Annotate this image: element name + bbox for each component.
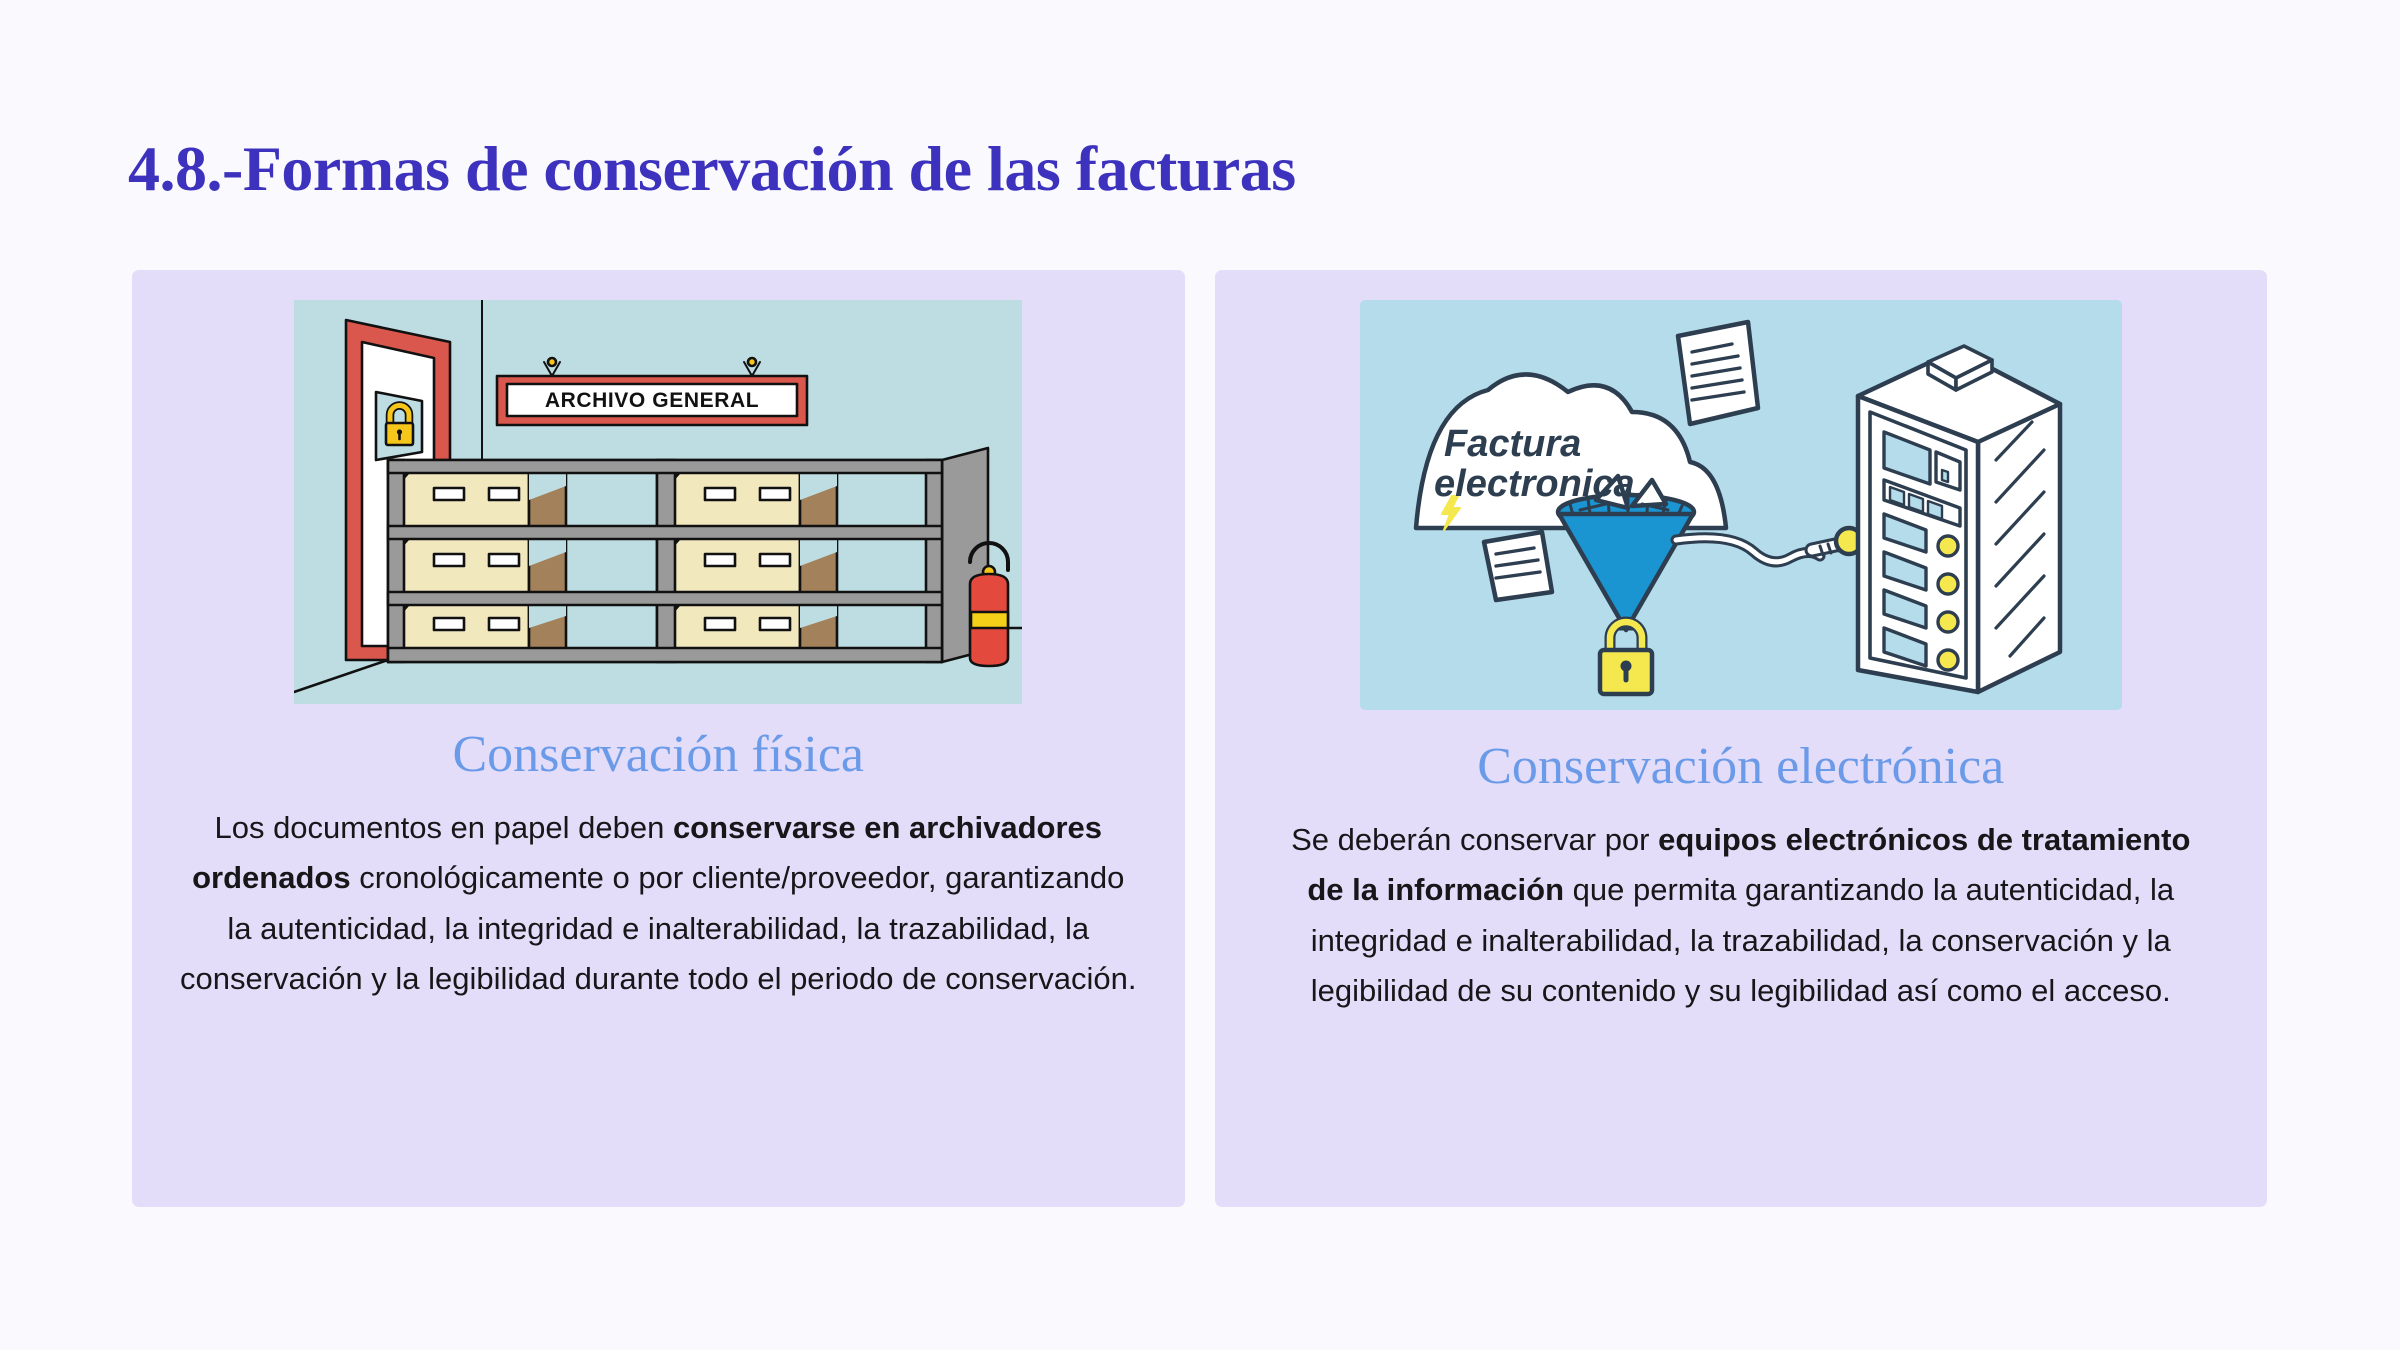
card-conservacion-fisica: ARCHIVO GENERAL Conservación física Los … [132,270,1185,1207]
card-body-fisica: Los documentos en papel deben conservars… [132,803,1185,1004]
card-heading-electronica: Conservación electrónica [1477,738,2004,795]
cards-container: ARCHIVO GENERAL Conservación física Los … [132,270,2267,1207]
page-title: 4.8.-Formas de conservación de las factu… [128,132,1296,206]
body-text-run: Se deberán conservar por [1291,822,1658,857]
cloud-label-line1: Factura [1444,423,1581,465]
body-text-run: Los documentos en papel deben [214,810,672,845]
card-conservacion-electronica: Factura electronica Conservación electró… [1215,270,2268,1207]
cloud-label-line2: electronica [1434,463,1635,505]
card-heading-fisica: Conservación física [452,726,864,783]
archive-sign-label: ARCHIVO GENERAL [545,389,759,412]
card-body-electronica: Se deberán conservar por equipos electró… [1215,815,2268,1016]
physical-archive-room-illustration: ARCHIVO GENERAL [294,300,1022,704]
electronic-archive-illustration: Factura electronica [1360,300,2122,710]
